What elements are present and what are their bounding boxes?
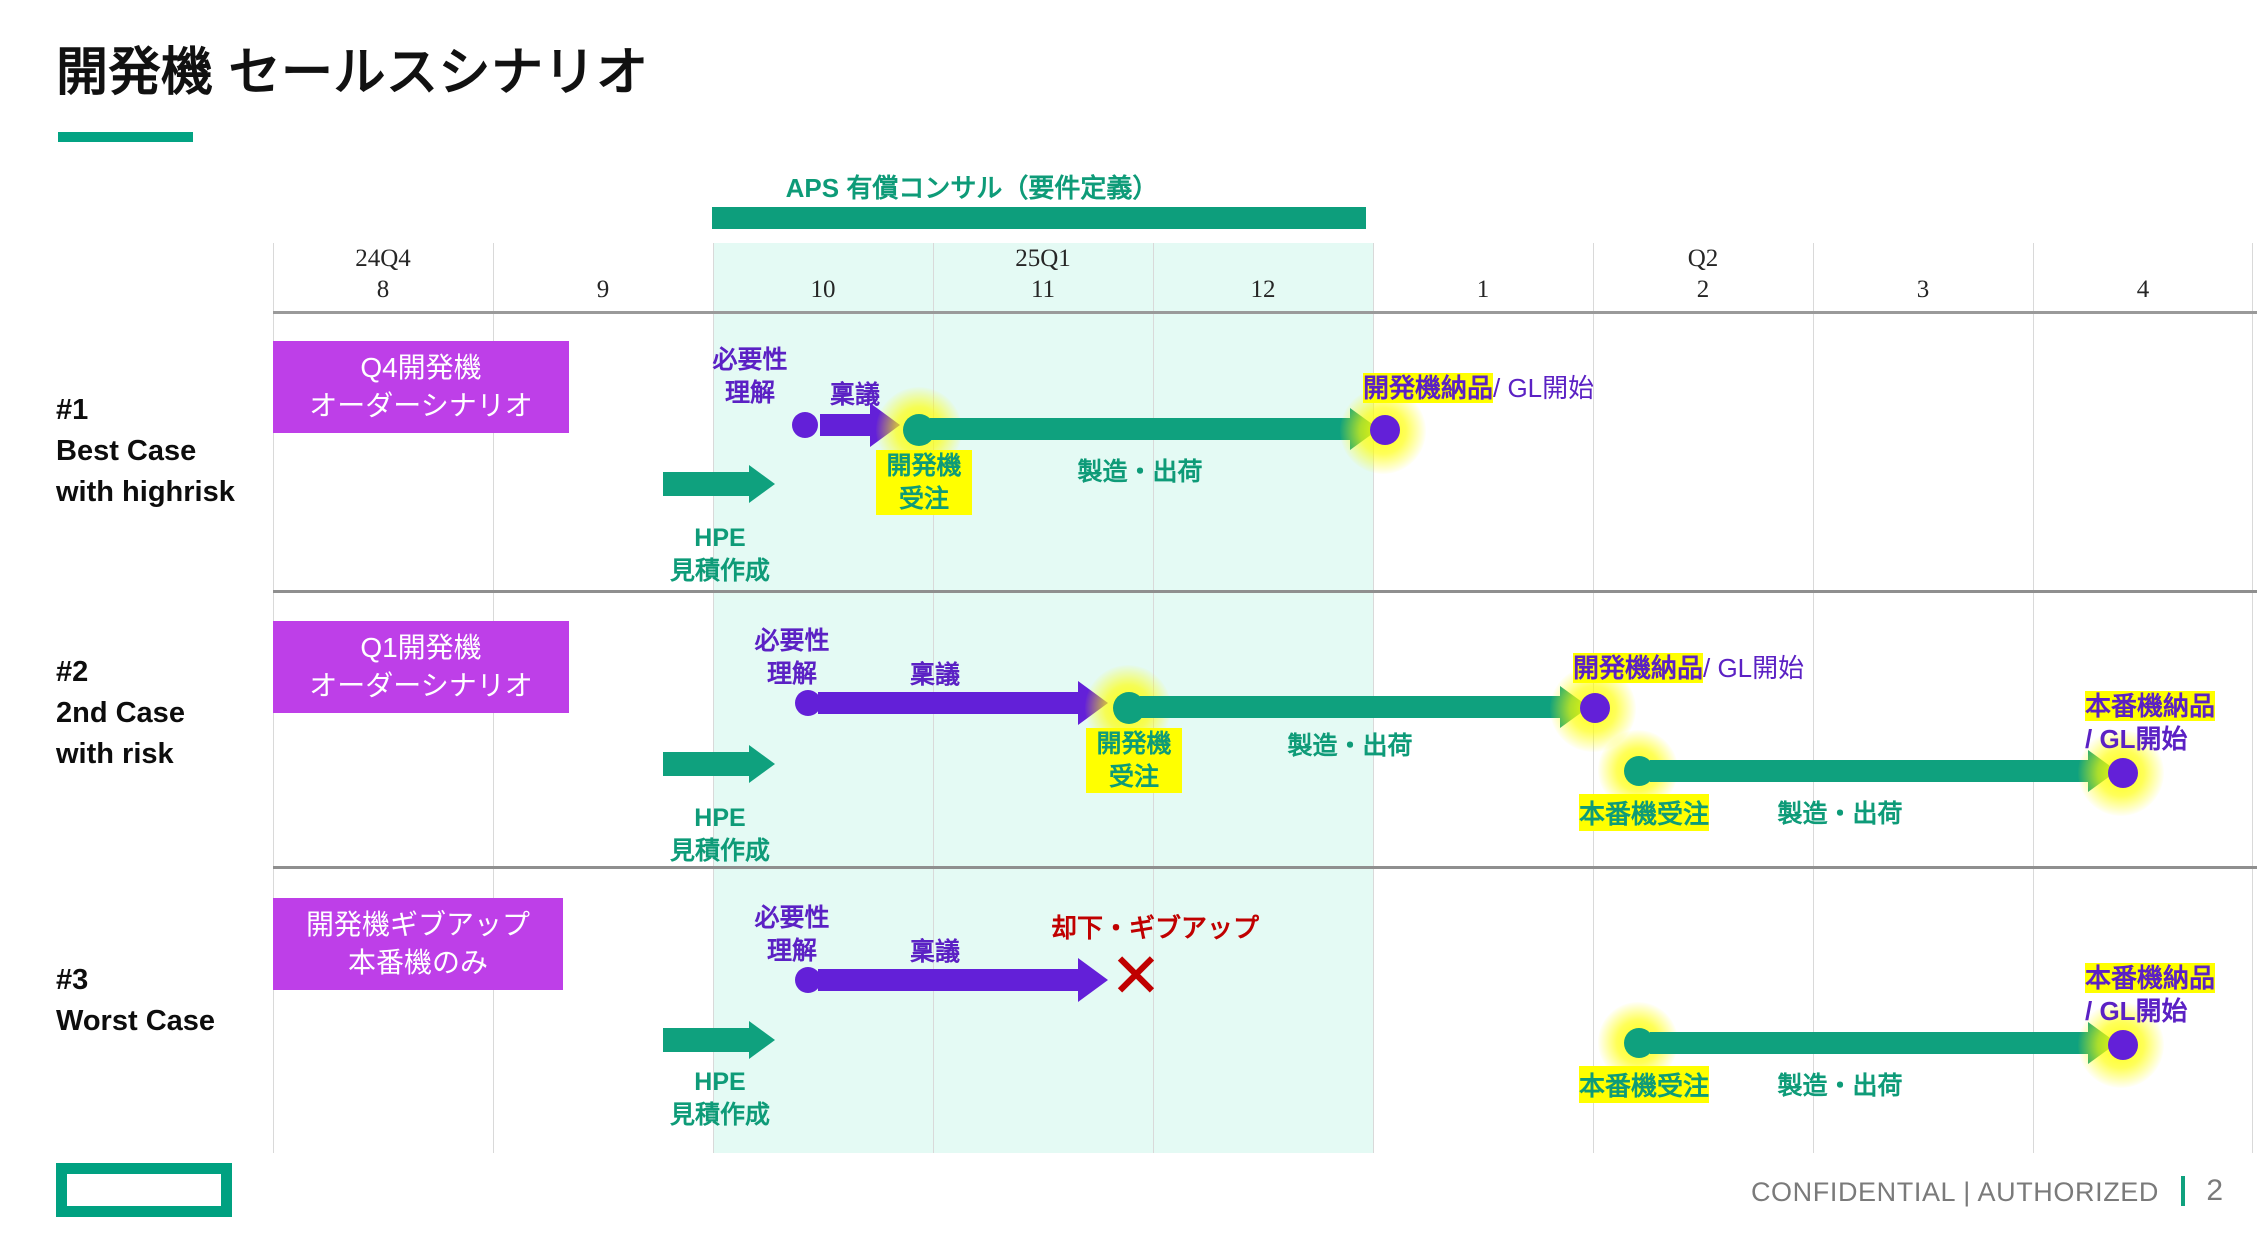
- row2-hpe-quote-arrow-shaft: [663, 752, 749, 776]
- row1-dev-delivery-text: 開発機納品: [1363, 373, 1493, 403]
- page-number: 2: [2206, 1174, 2223, 1208]
- timeline-header: 24Q4 8 9 10 25Q1 11 12 1 Q2 2 3 4: [273, 243, 2253, 313]
- timeline-column-3: [1813, 243, 2033, 1153]
- row2-need-understanding-label: 必要性 理解: [732, 625, 852, 691]
- row2-prod-delivery-label: 本番機納品 / GL開始: [2085, 690, 2215, 757]
- page-title: 開発機 セールスシナリオ: [56, 30, 648, 105]
- timeline-header-8: 24Q4 8: [273, 243, 493, 312]
- row1-dev-order-label: 開発機 受注: [876, 450, 972, 515]
- row-caption-3-line2: Worst Case: [56, 1001, 215, 1042]
- row-caption-1-line1: #1: [56, 390, 235, 431]
- row2-prod-manufacture-label: 製造・出荷: [1730, 794, 1950, 830]
- row-caption-2: #2 2nd Case with risk: [56, 652, 185, 776]
- row-caption-3: #3 Worst Case: [56, 960, 215, 1042]
- row-divider-1: [273, 590, 2257, 593]
- row3-prod-manufacture-label: 製造・出荷: [1730, 1066, 1950, 1102]
- month-label-1: 1: [1373, 276, 1593, 304]
- slide-root: 開発機 セールスシナリオ APS 有償コンサル（要件定義） 24Q4 8 9 1…: [0, 0, 2257, 1234]
- scenario-badge-1-line1: Q4開発機: [279, 349, 563, 387]
- row2-prod-delivery-dot: [2108, 758, 2138, 788]
- row3-ringi-arrow-shaft: [818, 969, 1078, 991]
- row2-dev-delivery-label: 開発機納品/ GL開始: [1573, 648, 1804, 685]
- row2-prod-order-label: 本番機受注: [1579, 794, 1709, 831]
- page-title-rest: セールスシナリオ: [214, 44, 649, 102]
- row3-prod-gl-start-text: / GL開始: [2085, 996, 2188, 1026]
- page-title-prefix: 開発機: [56, 44, 214, 102]
- row3-prod-delivery-dot: [2108, 1030, 2138, 1060]
- row1-manufacture-label: 製造・出荷: [1030, 452, 1250, 488]
- row3-need-understanding-label: 必要性 理解: [732, 902, 852, 968]
- row3-hpe-quote-arrow-head: [749, 1021, 775, 1059]
- row3-hpe-quote-label: HPE 見積作成: [640, 1066, 800, 1132]
- row3-ringi-arrow-head: [1078, 958, 1108, 1002]
- row2-prod-manufacture-arrow-shaft: [1650, 760, 2088, 782]
- row1-hpe-quote-label: HPE 見積作成: [640, 522, 800, 588]
- row1-dev-delivery-label: 開発機納品/ GL開始: [1363, 368, 1594, 405]
- row-caption-2-line1: #2: [56, 652, 185, 693]
- month-label-2: 2: [1593, 276, 1813, 304]
- timeline-header-10: 10: [713, 243, 933, 312]
- row1-need-understanding-dot: [792, 412, 818, 438]
- row3-prod-delivery-text: 本番機納品: [2085, 963, 2215, 993]
- title-accent-rule: [58, 132, 193, 142]
- timeline-header-4: 4: [2033, 243, 2253, 312]
- scenario-badge-3-line2: 本番機のみ: [279, 944, 557, 982]
- scenario-badge-2[interactable]: Q1開発機 オーダーシナリオ: [273, 621, 569, 713]
- row2-hpe-quote-label: HPE 見積作成: [640, 802, 800, 868]
- row3-prod-delivery-label: 本番機納品 / GL開始: [2085, 962, 2215, 1029]
- hpe-logo: [56, 1163, 232, 1217]
- row2-ringi-label: 稟議: [880, 655, 990, 691]
- row2-prod-gl-start-text: / GL開始: [2085, 724, 2188, 754]
- row-caption-2-line2: 2nd Case: [56, 693, 185, 734]
- row-caption-2-line3: with risk: [56, 734, 185, 775]
- quarter-label-q2: Q2: [1593, 245, 1813, 273]
- row2-hpe-quote-arrow-head: [749, 745, 775, 783]
- month-label-9: 9: [493, 276, 713, 304]
- quarter-label-25q1: 25Q1: [933, 245, 1153, 273]
- row3-prod-order-label: 本番機受注: [1579, 1066, 1709, 1103]
- timeline-header-2: Q2 2: [1593, 243, 1813, 312]
- month-label-12: 12: [1153, 276, 1373, 304]
- row2-dev-delivery-dot: [1580, 693, 1610, 723]
- row2-prod-delivery-text: 本番機納品: [2085, 691, 2215, 721]
- scenario-badge-1-line2: オーダーシナリオ: [279, 387, 563, 425]
- row-caption-1-line2: Best Case: [56, 431, 235, 472]
- month-label-8: 8: [273, 276, 493, 304]
- row-divider-2: [273, 866, 2257, 869]
- month-label-4: 4: [2033, 276, 2253, 304]
- row2-manufacture-label: 製造・出荷: [1240, 726, 1460, 762]
- row2-dev-delivery-text: 開発機納品: [1573, 653, 1703, 683]
- aps-consult-label: APS 有償コンサル（要件定義）: [712, 168, 1232, 205]
- aps-consult-bar: [712, 207, 1366, 229]
- row1-need-understanding-label: 必要性 理解: [690, 344, 810, 410]
- scenario-badge-2-line2: オーダーシナリオ: [279, 667, 563, 705]
- month-label-3: 3: [1813, 276, 2033, 304]
- row-caption-3-line1: #3: [56, 960, 215, 1001]
- row2-ringi-arrow-shaft: [818, 692, 1078, 714]
- row3-hpe-quote-arrow-shaft: [663, 1028, 749, 1052]
- confidentiality-notice: CONFIDENTIAL | AUTHORIZED: [1751, 1177, 2159, 1208]
- row1-hpe-quote-arrow-shaft: [663, 472, 749, 496]
- scenario-badge-2-line1: Q1開発機: [279, 629, 563, 667]
- row3-giveup-x-icon: ✕: [1110, 946, 1162, 1008]
- timeline-header-3: 3: [1813, 243, 2033, 312]
- row1-gl-start-text: / GL開始: [1493, 373, 1594, 403]
- scenario-badge-1[interactable]: Q4開発機 オーダーシナリオ: [273, 341, 569, 433]
- month-label-11: 11: [933, 276, 1153, 304]
- timeline-header-11: 25Q1 11: [933, 243, 1153, 312]
- row-caption-1-line3: with highrisk: [56, 472, 235, 513]
- timeline-header-rule: [273, 311, 2257, 314]
- month-label-10: 10: [713, 276, 933, 304]
- row1-dev-delivery-dot: [1370, 415, 1400, 445]
- timeline-header-1: 1: [1373, 243, 1593, 312]
- row-caption-1: #1 Best Case with highrisk: [56, 390, 235, 514]
- scenario-badge-3[interactable]: 開発機ギブアップ 本番機のみ: [273, 898, 563, 990]
- row3-rejected-label: 却下・ギブアップ: [1030, 908, 1280, 945]
- row2-gl-start-text: / GL開始: [1703, 653, 1804, 683]
- row1-hpe-quote-arrow-head: [749, 465, 775, 503]
- timeline-header-9: 9: [493, 243, 713, 312]
- row2-dev-order-label: 開発機 受注: [1086, 728, 1182, 793]
- row3-prod-manufacture-arrow-shaft: [1650, 1032, 2088, 1054]
- scenario-badge-3-line1: 開発機ギブアップ: [279, 906, 557, 944]
- timeline-header-12: 12: [1153, 243, 1373, 312]
- row1-ringi-arrow-shaft: [820, 414, 870, 436]
- quarter-label-24q4: 24Q4: [273, 245, 493, 273]
- row3-ringi-label: 稟議: [880, 932, 990, 968]
- footer-separator: [2181, 1176, 2185, 1206]
- row1-manufacture-arrow-shaft: [930, 418, 1350, 440]
- row2-manufacture-arrow-shaft: [1140, 696, 1560, 718]
